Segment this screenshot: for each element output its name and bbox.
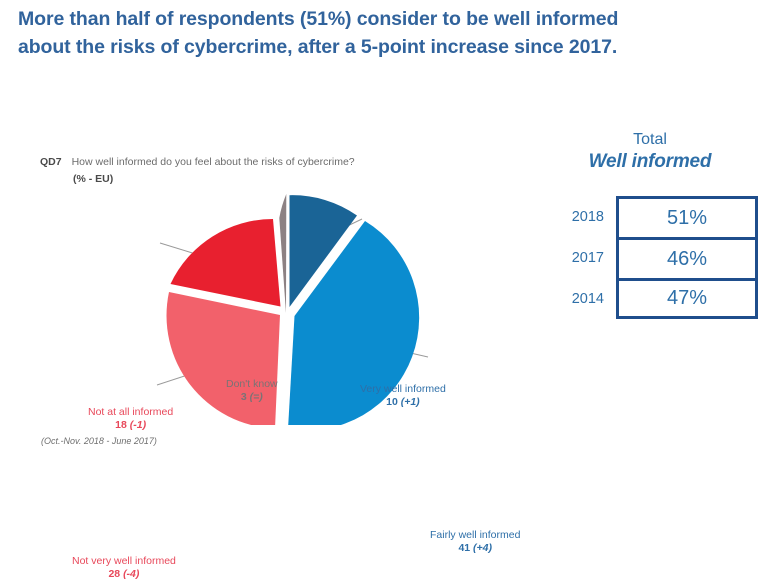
pie-label-very-well-informed-number: 10 [386,396,398,408]
pie-label-not-at-all-informed-value: 18 (-1) [88,419,173,432]
question-block: QD7 How well informed do you feel about … [40,156,440,185]
pie-label-very-well-informed: Very well informed 10 (+1) [360,383,446,410]
page-title: More than half of respondents (51%) cons… [18,6,758,61]
pie-label-not-at-all-informed-name: Not at all informed [88,406,173,419]
table-row-value: 47% [616,278,758,319]
table-row: 2018 51% [540,196,758,237]
well-informed-table: 2018 51% 2017 46% 2014 47% [540,196,758,319]
pie-label-not-very-well-informed: Not very well informed 28 (-4) [72,555,176,582]
total-panel-subtitle: Well informed [540,150,760,175]
table-row: 2014 47% [540,278,758,319]
pie-label-not-very-well-informed-name: Not very well informed [72,555,176,568]
pie-label-not-very-well-informed-value: 28 (-4) [72,568,176,581]
pie-wedge-dont-know [279,194,286,313]
pie-label-very-well-informed-name: Very well informed [360,383,446,396]
pie-label-not-at-all-informed-delta: (-1) [130,419,146,431]
table-row-value: 46% [616,237,758,278]
table-row-year: 2014 [540,278,616,319]
total-panel-header: Total Well informed [540,130,760,175]
pie-label-dont-know: Don't know 3 (=) [226,378,278,405]
question-text: How well informed do you feel about the … [72,156,355,170]
pie-label-not-very-well-informed-number: 28 [108,568,120,580]
total-panel: Total Well informed 2018 51% 2017 46% 20… [540,130,760,175]
pie-wedge-not-at-all-informed [171,219,281,307]
pie-label-fairly-well-informed-name: Fairly well informed [430,529,520,542]
pie-label-fairly-well-informed-number: 41 [458,542,470,554]
pie-wedge-not-very-well-informed [167,292,280,425]
pie-label-very-well-informed-delta: (+1) [401,396,420,408]
question-row: QD7 How well informed do you feel about … [40,156,440,170]
table-row-year: 2017 [540,237,616,278]
pie-label-not-at-all-informed-number: 18 [115,419,127,431]
pie-label-fairly-well-informed-value: 41 (+4) [430,542,520,555]
pie-chart-svg [30,185,550,425]
question-code: QD7 [40,156,62,168]
page-title-line-2: about the risks of cybercrime, after a 5… [18,34,758,62]
question-unit: (% - EU) [73,173,440,185]
pie-chart: Don't know 3 (=) Very well informed 10 (… [30,185,550,425]
footnote: (Oct.-Nov. 2018 - June 2017) [41,436,157,446]
pie-label-dont-know-value: 3 (=) [226,391,278,404]
pie-label-dont-know-name: Don't know [226,378,278,391]
pie-label-not-at-all-informed: Not at all informed 18 (-1) [88,406,173,433]
pie-label-fairly-well-informed-delta: (+4) [473,542,492,554]
total-panel-title: Total [540,130,760,150]
pie-label-fairly-well-informed: Fairly well informed 41 (+4) [430,529,520,556]
pie-label-dont-know-number: 3 [241,391,247,403]
table-row-year: 2018 [540,196,616,237]
pie-label-dont-know-delta: (=) [250,391,263,403]
table-row: 2017 46% [540,237,758,278]
pie-label-not-very-well-informed-delta: (-4) [123,568,139,580]
page-title-line-1: More than half of respondents (51%) cons… [18,6,758,34]
pie-label-very-well-informed-value: 10 (+1) [360,396,446,409]
table-row-value: 51% [616,196,758,237]
